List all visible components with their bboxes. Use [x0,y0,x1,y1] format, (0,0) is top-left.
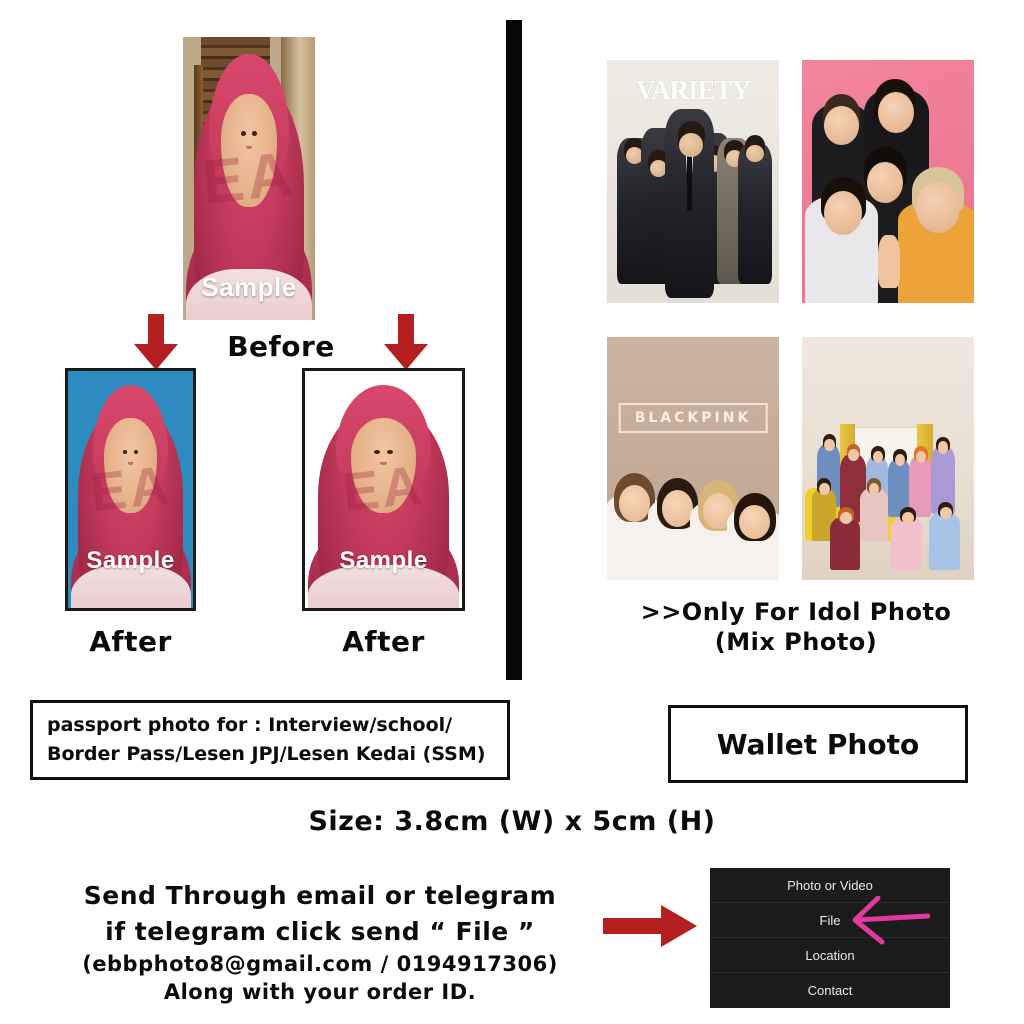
variety-logo: VARIETY [636,75,750,106]
member-body [830,517,861,570]
size-note: Size: 3.8cm (W) x 5cm (H) [212,806,812,837]
member-head [739,505,770,539]
member-head [940,507,952,519]
eye-right [387,450,392,454]
member-head [819,483,829,495]
member-head [916,451,926,463]
passport-info-line1: passport photo for : Interview/school/ [47,714,452,736]
sample-watermark-after-left: Sample [68,547,193,575]
highlight-arrow-icon [848,896,930,946]
after-photo-white: EA Sample [302,368,465,611]
idol-caption-line2: (Mix Photo) [600,628,992,656]
sample-watermark-after-right: Sample [305,547,462,575]
mouth [128,462,133,465]
wallet-photo-label: Wallet Photo [671,728,965,761]
member-head [824,439,834,451]
mouth [246,146,252,149]
send-note-line3: (ebbphoto8@gmail.com / 0194917306) [60,952,580,976]
member-head [916,182,961,233]
eye-right [252,131,256,136]
down-arrow-right-icon [378,314,434,372]
send-note-line1: Send Through email or telegram [60,881,580,910]
member-body [860,488,888,541]
before-caption: Before [186,330,376,363]
member-head [619,485,650,521]
blackpink-logo: BLACKPINK [619,403,768,433]
after-caption-left: After [65,625,196,658]
sample-watermark-before: Sample [183,272,315,303]
idol-photo-pink-selfie [802,60,974,303]
before-photo: EA Sample [183,37,315,320]
idol-photo-variety: VARIETY [607,60,779,303]
member-head [895,454,905,466]
suit-figure [738,143,772,284]
member-head [840,512,852,524]
menu-item-contact[interactable]: Contact [710,973,950,1008]
passport-info-line2: Border Pass/Lesen JPJ/Lesen Kedai (SSM) [47,743,485,765]
member-head [848,449,858,461]
peace-hand [878,235,900,288]
eye-left [123,450,127,454]
member-head [824,106,858,145]
right-arrow-icon [603,903,699,949]
after-caption-right: After [302,625,465,658]
idol-photo-blackpink: BLACKPINK [607,337,779,580]
idol-caption-line1: >>Only For Idol Photo [600,598,992,626]
face [221,94,276,207]
member-head [902,512,914,524]
eye-left [241,131,245,136]
member-body [929,512,960,570]
face [104,418,157,513]
wallet-photo-box: Wallet Photo [668,705,968,783]
after-photo-blue: EA Sample [65,368,196,611]
member-head [873,451,883,463]
down-arrow-left-icon [128,314,184,372]
member-head [662,490,693,526]
eye-left [374,450,379,454]
passport-info-box: passport photo for : Interview/school/ B… [30,700,510,780]
poster-canvas: EA Sample Before EA Sample After [0,0,1024,1024]
member-body [891,517,922,570]
idol-photo-living-room [802,337,974,580]
eye-right [134,450,138,454]
send-note-line4: Along with your order ID. [60,980,580,1004]
suit-head [746,145,763,162]
member-head [938,441,948,453]
mouth [380,462,387,465]
vertical-divider [506,20,522,680]
send-note-line2: if telegram click send “ File ” [60,917,580,946]
member-head [878,92,914,133]
member-head [824,191,862,235]
